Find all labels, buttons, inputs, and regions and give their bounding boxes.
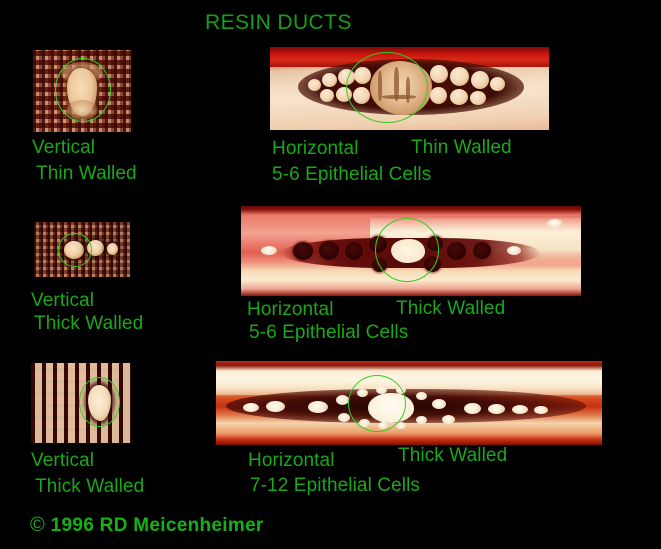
epithelial-cell [266, 401, 285, 412]
epithelial-cell [320, 89, 334, 102]
copyright-icon: © [30, 514, 45, 536]
epithelial-cell [336, 395, 349, 405]
epithelial-cell [319, 241, 339, 260]
epithelial-cell [336, 87, 352, 102]
caption-horizontal-thick712-wall: Thick Walled [398, 443, 507, 468]
epithelial-cell [450, 89, 468, 105]
epithelial-cell [354, 67, 371, 84]
epithelial-cell [243, 403, 259, 412]
epithelial-cell [442, 415, 455, 424]
epithelial-cell [378, 422, 388, 429]
caption-horizontal-thick56-cells: 5-6 Epithelial Cells [249, 320, 408, 345]
caption-vertical-thin-line2: Thin Walled [36, 161, 137, 186]
epithelial-cell [372, 258, 387, 272]
resin-duct-lumen [107, 243, 118, 255]
epithelial-cell [534, 406, 548, 414]
caption-horizontal-thin-orientation: Horizontal [272, 136, 359, 161]
resin-duct-lumen [368, 393, 414, 423]
epithelial-cell [424, 256, 441, 272]
caption-horizontal-thin-wall: Thin Walled [411, 135, 512, 160]
caption-vertical-thin-line1: Vertical [32, 135, 95, 160]
tracheid-lumen [547, 219, 563, 228]
epithelial-cell [432, 399, 446, 409]
horizontal-thick-walled-5-6-micrograph [241, 206, 581, 296]
horizontal-thick-walled-7-12-micrograph [216, 361, 602, 445]
page-title: RESIN DUCTS [205, 11, 352, 35]
epithelial-cell [345, 242, 363, 260]
epithelial-cell [416, 392, 427, 400]
epithelial-cell [447, 242, 466, 260]
resin-duct-lumen [370, 61, 432, 115]
epithelial-cell [471, 71, 489, 89]
epithelial-cell [473, 242, 491, 259]
caption-horizontal-thick56-wall: Thick Walled [396, 296, 505, 321]
epithelial-cell [396, 422, 406, 429]
epithelial-cell [308, 401, 328, 413]
vertical-thick-walled-2-micrograph [31, 363, 131, 443]
copyright-text: 1996 RD Meicenheimer [51, 515, 264, 536]
epithelial-cell [369, 236, 387, 253]
epithelial-cell [338, 413, 350, 422]
epithelial-cell [353, 87, 370, 104]
caption-horizontal-thick712-orientation: Horizontal [248, 448, 335, 473]
epithelial-cell [450, 67, 469, 86]
epithelial-cell [490, 77, 505, 91]
caption-horizontal-thick712-cells: 7-12 Epithelial Cells [250, 473, 420, 498]
resin-duct-lumen [391, 239, 425, 263]
epithelial-cell [308, 79, 321, 91]
epithelial-cell [430, 65, 448, 83]
epithelial-cell [512, 405, 528, 414]
caption-vertical-thick-line2: Thick Walled [34, 311, 143, 336]
resin-duct-lumen [64, 241, 84, 259]
resin-duct-lumen [87, 240, 104, 256]
tracheid-lumen [261, 246, 277, 255]
epithelial-cell [338, 69, 355, 85]
resin-ducts-slide: RESIN DUCTS Vertical Thin Walled [0, 0, 661, 549]
epithelial-cell [488, 404, 505, 414]
epithelial-cell [470, 91, 486, 105]
resin-duct-lumen [88, 385, 111, 421]
epithelial-cell [322, 73, 337, 87]
epithelial-cell [430, 87, 447, 104]
epithelial-cell [427, 236, 443, 251]
epithelial-cell [464, 403, 481, 414]
duct-halo-lower [66, 100, 98, 120]
epithelial-cell [293, 242, 313, 260]
vertical-thick-walled-micrograph [34, 222, 130, 277]
caption-vertical-thick2-line2: Thick Walled [35, 474, 144, 499]
caption-vertical-thick2-line1: Vertical [31, 448, 94, 473]
caption-vertical-thick-line1: Vertical [31, 288, 94, 313]
vertical-thin-walled-micrograph [33, 50, 131, 132]
epithelial-cell [357, 389, 368, 397]
epithelial-cell [359, 419, 370, 427]
tracheid-lumen [507, 246, 521, 255]
caption-horizontal-thin-cells: 5-6 Epithelial Cells [272, 162, 431, 187]
epithelial-cell [416, 416, 427, 424]
caption-horizontal-thick56-orientation: Horizontal [247, 297, 334, 322]
copyright-notice: © 1996 RD Meicenheimer [30, 513, 264, 538]
horizontal-thin-walled-micrograph [270, 47, 549, 130]
